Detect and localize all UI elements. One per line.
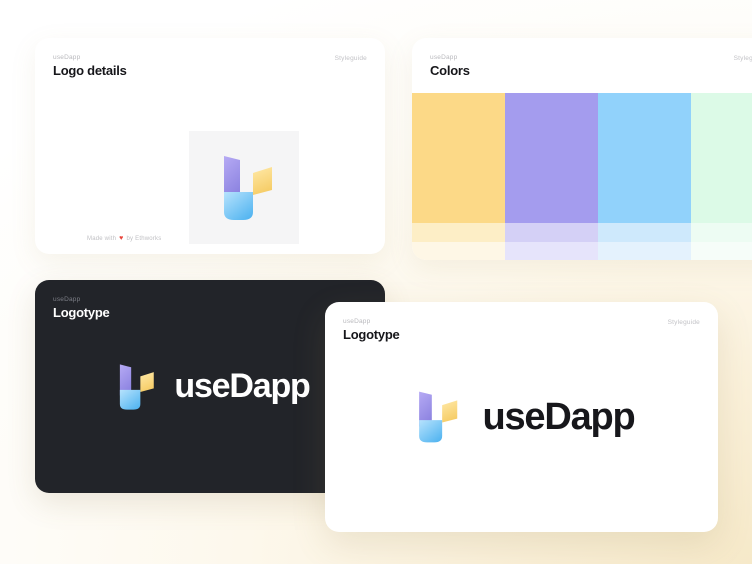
- footer-credit-suffix: by Ethworks: [127, 236, 162, 242]
- color-swatch-purple-main[interactable]: [505, 93, 598, 223]
- color-swatch-mint-tint1[interactable]: [691, 223, 752, 241]
- card-logotype-light[interactable]: useDapp Logotype Styleguide: [325, 302, 718, 532]
- color-swatch-purple-tint1[interactable]: [505, 223, 598, 241]
- usedapp-logo-icon: [210, 150, 278, 226]
- color-swatch-blue-main[interactable]: [598, 93, 691, 223]
- color-swatch-blue-tint1[interactable]: [598, 223, 691, 241]
- logo-lockup-light: useDapp: [325, 302, 718, 532]
- footer-credit: Made with ♥ by Ethworks: [87, 235, 161, 242]
- footer-credit-prefix: Made with: [87, 236, 116, 242]
- color-column-purple[interactable]: [505, 93, 598, 260]
- color-swatch-mint-tint2[interactable]: [691, 242, 752, 260]
- color-swatch-yellow-tint2[interactable]: [412, 242, 505, 260]
- color-swatch-purple-tint2[interactable]: [505, 242, 598, 260]
- card-header: useDapp Logo details Styleguide: [35, 38, 385, 79]
- styleguide-label: Styleguide: [734, 54, 752, 62]
- card-eyebrow: useDapp: [430, 54, 470, 61]
- color-palette: [412, 93, 752, 260]
- wordmark-text: useDapp: [482, 396, 634, 439]
- card-heading-group: useDapp Logo details: [53, 54, 127, 79]
- styleguide-canvas: useDapp Logo details Styleguide: [0, 0, 752, 564]
- heart-icon: ♥: [119, 235, 123, 242]
- card-title: Colors: [430, 64, 470, 79]
- color-swatch-blue-tint2[interactable]: [598, 242, 691, 260]
- card-eyebrow: useDapp: [53, 54, 127, 61]
- card-colors[interactable]: useDapp Colors Styleguide: [412, 38, 752, 260]
- wordmark-text: useDapp: [174, 367, 309, 406]
- color-column-mint[interactable]: [691, 93, 752, 260]
- card-logo-details[interactable]: useDapp Logo details Styleguide: [35, 38, 385, 254]
- logo-swatch-tile: [189, 131, 299, 244]
- color-column-blue[interactable]: [598, 93, 691, 260]
- usedapp-logo-icon: [408, 386, 462, 448]
- color-swatch-yellow-main[interactable]: [412, 93, 505, 223]
- usedapp-logo-icon: [110, 359, 158, 415]
- card-heading-group: useDapp Colors: [430, 54, 470, 79]
- card-title: Logo details: [53, 64, 127, 79]
- color-column-yellow[interactable]: [412, 93, 505, 260]
- color-swatch-mint-main[interactable]: [691, 93, 752, 223]
- card-header: useDapp Colors Styleguide: [412, 38, 752, 79]
- styleguide-label: Styleguide: [335, 54, 367, 62]
- color-swatch-yellow-tint1[interactable]: [412, 223, 505, 241]
